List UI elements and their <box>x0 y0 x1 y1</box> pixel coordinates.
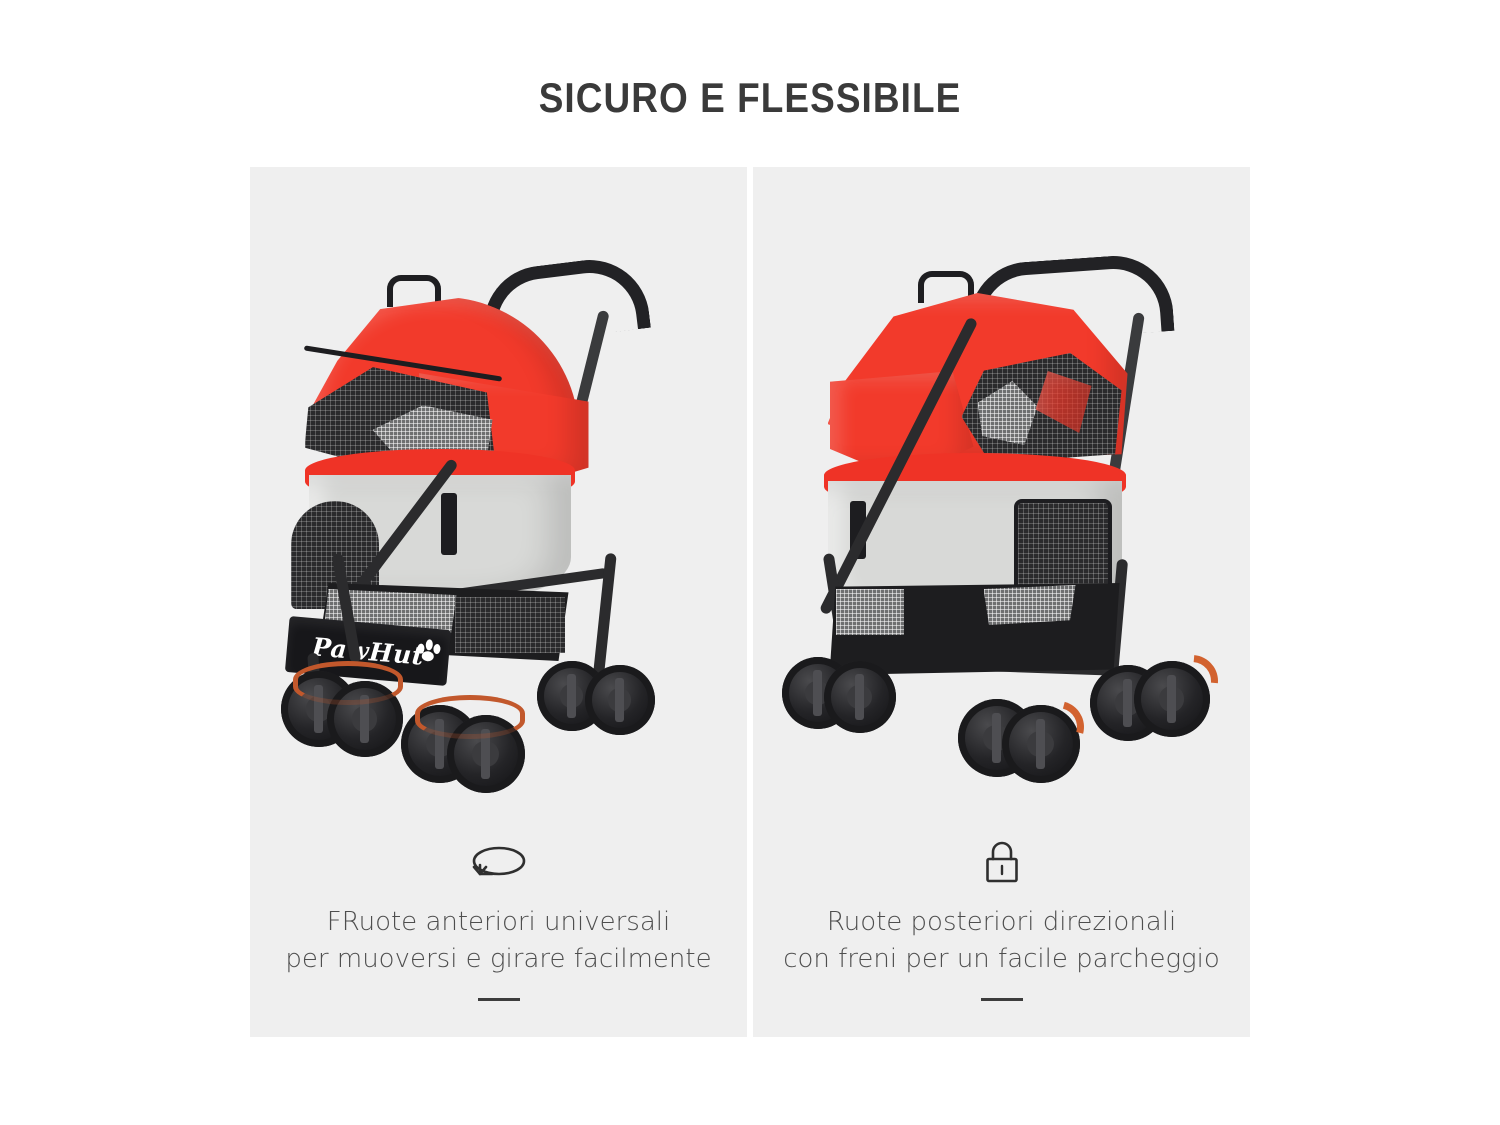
panel-rear-wheels: Ruote posteriori direzionali con freni p… <box>753 167 1250 1037</box>
wheel-spoke <box>567 674 576 719</box>
caption-front-wheels: FRuote anteriori universali per muoversi… <box>250 838 747 1001</box>
caption-rear-wheels: Ruote posteriori direzionali con freni p… <box>753 838 1250 1001</box>
wheel-spoke <box>1123 679 1132 728</box>
rear-wheel-inner-left <box>824 661 896 733</box>
stroller-illustration-side: PawHut <box>269 253 729 813</box>
paw-print-icon <box>414 634 442 662</box>
rotate-360-icon <box>250 838 747 886</box>
storage-basket-mesh-right <box>455 597 565 653</box>
front-caster-swivel-ring <box>293 661 403 705</box>
front-caster-swivel-ring-2 <box>415 695 525 739</box>
product-image-front-wheels: PawHut <box>250 253 747 823</box>
storage-basket-mesh-right <box>984 585 1076 625</box>
wheel-spoke <box>992 713 1001 763</box>
wheel-spoke <box>855 674 864 720</box>
rear-wheel-inner <box>585 665 655 735</box>
product-image-rear-wheels <box>753 253 1250 823</box>
wheel-spoke <box>615 678 624 723</box>
safety-strap-buckle <box>441 493 457 555</box>
page-title: SICURO E FLESSIBILE <box>90 74 1410 122</box>
caption-line-1: Ruote posteriori direzionali <box>753 904 1250 941</box>
storage-basket-mesh-left <box>836 589 904 635</box>
panel-front-wheels: PawHut <box>250 167 747 1037</box>
caption-divider <box>478 998 520 1001</box>
caption-line-1: FRuote anteriori universali <box>250 904 747 941</box>
wheel-spoke <box>813 670 822 716</box>
caption-line-2: con freni per un facile parcheggio <box>753 941 1250 978</box>
stroller-illustration-rear <box>772 253 1232 813</box>
feature-panels: PawHut <box>250 167 1250 1037</box>
caption-divider <box>981 998 1023 1001</box>
lock-icon <box>753 838 1250 886</box>
caption-line-2: per muoversi e girare facilmente <box>250 941 747 978</box>
